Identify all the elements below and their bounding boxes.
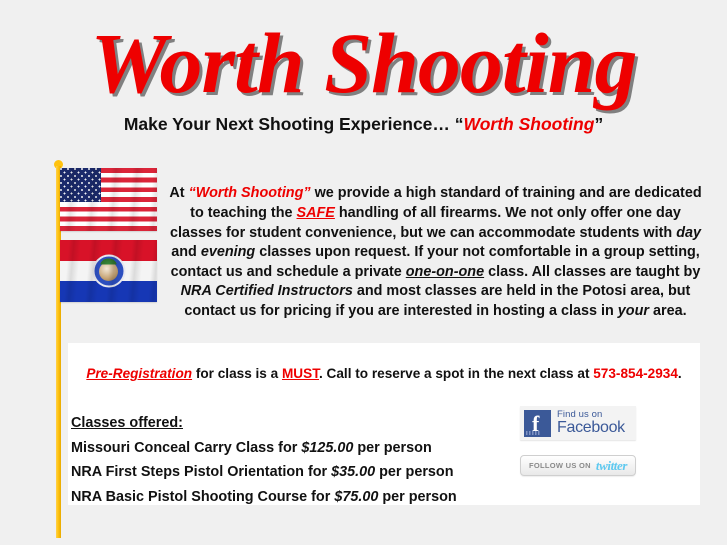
twitter-brand-wordmark: twitter — [596, 458, 627, 474]
class-price-suffix: per person — [375, 464, 453, 480]
intro-one-on-one-emphasis: one-on-one — [406, 264, 484, 280]
class-name: NRA Basic Pistol Shooting Course for — [71, 489, 334, 505]
phone-number[interactable]: 573-854-2934 — [593, 366, 678, 381]
tagline-prefix: Make Your Next Shooting Experience… “ — [124, 114, 464, 134]
prereg-text-1: for class is a — [192, 366, 282, 381]
intro-text-4: and — [171, 244, 201, 260]
intro-brand: “Worth Shooting” — [189, 185, 311, 201]
facebook-badge-line2: Facebook — [557, 420, 625, 436]
facebook-icon-footer — [526, 431, 540, 435]
pre-registration-label: Pre-Registration — [86, 366, 192, 381]
class-price-suffix: per person — [353, 440, 431, 456]
mo-flag-wave-shading — [60, 240, 157, 302]
class-price: $35.00 — [331, 464, 375, 480]
twitter-badge[interactable]: FOLLOW US ON twitter — [520, 455, 636, 476]
list-item: NRA First Steps Pistol Orientation for $… — [71, 460, 511, 485]
twitter-badge-label: FOLLOW US ON — [529, 461, 591, 470]
class-name: Missouri Conceal Carry Class for — [71, 440, 301, 456]
class-price-suffix: per person — [378, 489, 456, 505]
united-states-flag-icon — [60, 168, 157, 231]
intro-safe-emphasis: SAFE — [297, 205, 335, 221]
facebook-badge-text: Find us on Facebook — [557, 410, 625, 437]
facebook-icon: f — [524, 410, 551, 437]
classes-heading-text: Classes offered: — [71, 415, 183, 431]
intro-text-1: At — [169, 185, 188, 201]
intro-evening-emphasis: evening — [201, 244, 255, 260]
intro-text-6: class. All classes are taught by — [484, 264, 700, 280]
page-root: Worth Shooting Make Your Next Shooting E… — [0, 0, 727, 545]
intro-day-emphasis: day — [676, 225, 701, 241]
classes-offered-list: Classes offered: Missouri Conceal Carry … — [71, 411, 511, 509]
us-flag-wave-shading — [60, 168, 157, 231]
class-price: $75.00 — [334, 489, 378, 505]
info-card: Pre-Registration for class is a MUST. Ca… — [68, 343, 700, 505]
facebook-badge[interactable]: f Find us on Facebook — [520, 406, 636, 440]
facebook-badge-line1: Find us on — [557, 410, 625, 420]
must-emphasis: MUST — [282, 366, 319, 381]
classes-offered-heading: Classes offered: — [71, 411, 511, 436]
prereg-text-2: . Call to reserve a spot in the next cla… — [319, 366, 593, 381]
intro-your-emphasis: your — [618, 303, 649, 319]
class-price: $125.00 — [301, 440, 353, 456]
tagline-suffix: ” — [594, 114, 603, 134]
intro-paragraph: At “Worth Shooting” we provide a high st… — [168, 184, 703, 321]
list-item: NRA Basic Pistol Shooting Course for $75… — [71, 485, 511, 510]
missouri-state-flag-icon — [60, 240, 157, 302]
list-item: Missouri Conceal Carry Class for $125.00… — [71, 436, 511, 461]
site-tagline: Make Your Next Shooting Experience… “Wor… — [0, 113, 727, 135]
class-name: NRA First Steps Pistol Orientation for — [71, 464, 331, 480]
intro-nra-instructors-emphasis: NRA Certified Instructors — [181, 283, 353, 299]
prereg-text-3: . — [678, 366, 682, 381]
site-title: Worth Shooting — [0, 18, 727, 108]
tagline-brand: Worth Shooting — [464, 114, 595, 134]
pre-registration-notice: Pre-Registration for class is a MUST. Ca… — [68, 365, 700, 383]
intro-text-8: area. — [649, 303, 687, 319]
